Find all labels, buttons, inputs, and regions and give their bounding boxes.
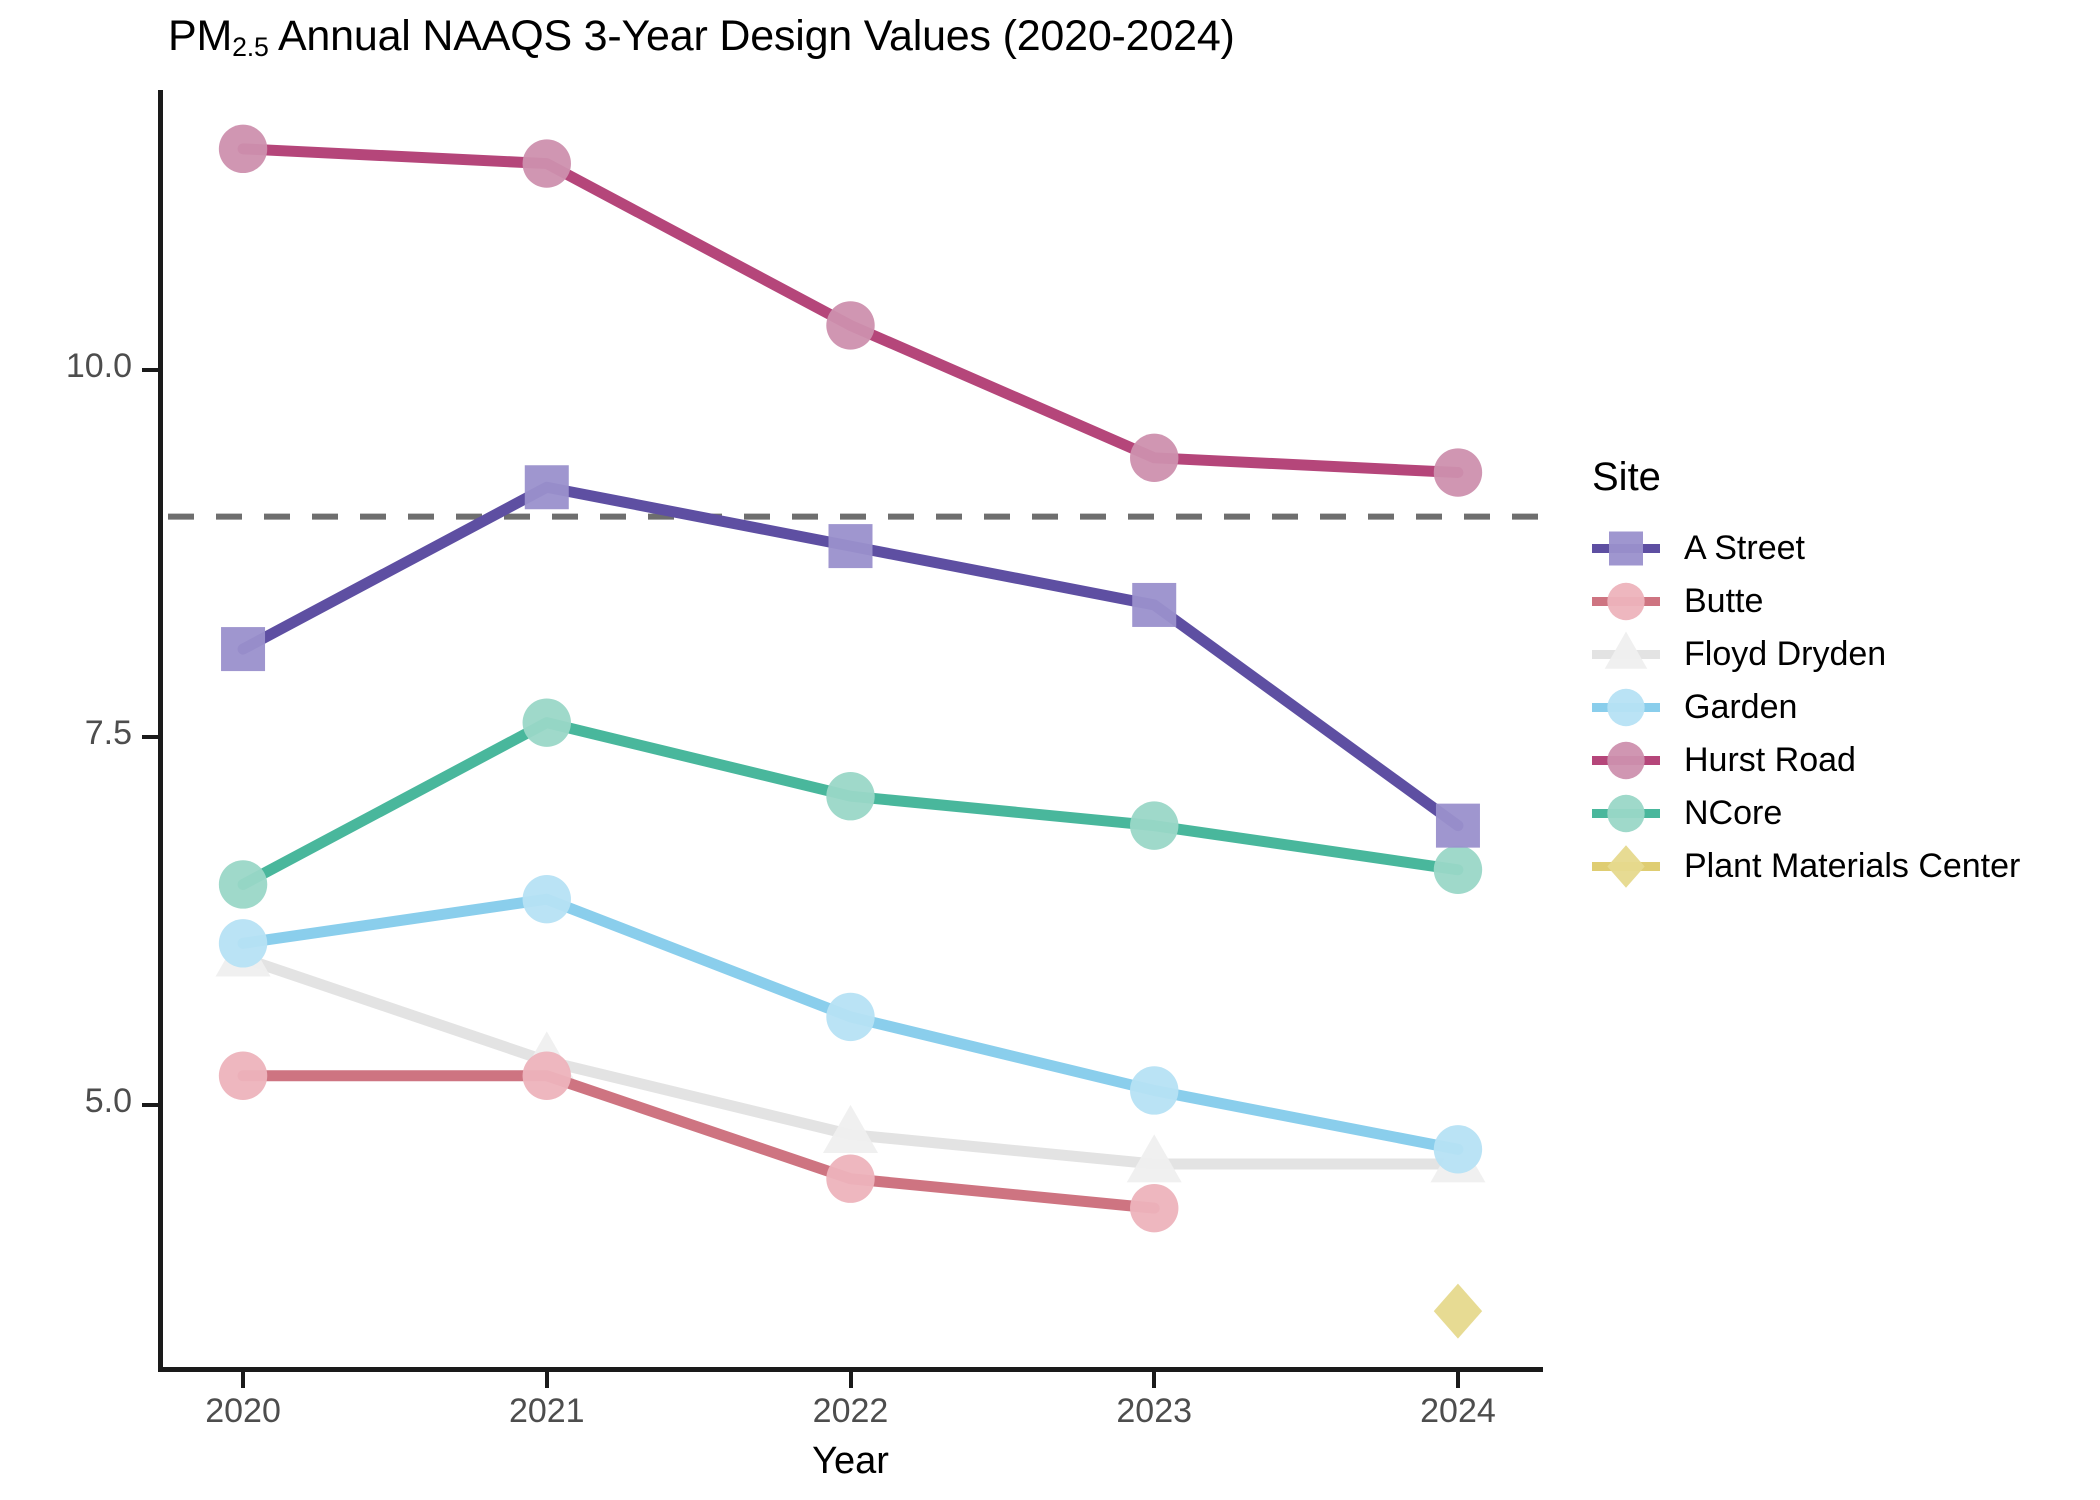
data-point-marker (523, 698, 571, 746)
data-point-marker (1607, 845, 1644, 888)
chart-title-subscript: 2.5 (232, 32, 268, 62)
legend-item-label: Floyd Dryden (1684, 635, 1886, 674)
legend-key-swatch (1590, 734, 1662, 787)
chart-title-main: PM (168, 12, 232, 60)
legend-key-swatch (1590, 840, 1662, 893)
data-point-marker (1607, 742, 1644, 779)
legend-item-hurst-road[interactable]: Hurst Road (1590, 734, 2070, 787)
legend-item-garden[interactable]: Garden (1590, 681, 2070, 734)
legend-item-plant-materials-center[interactable]: Plant Materials Center (1590, 840, 2070, 893)
data-point-marker (1434, 448, 1482, 496)
y-tick-mark (142, 368, 158, 372)
x-tick-label: 2021 (447, 1392, 647, 1431)
data-point-marker (525, 465, 569, 509)
legend-key-swatch (1590, 628, 1662, 681)
legend-item-label: Hurst Road (1684, 741, 1856, 780)
legend-item-a-street[interactable]: A Street (1590, 522, 2070, 575)
data-point-marker (219, 1052, 267, 1100)
legend-item-floyd-dryden[interactable]: Floyd Dryden (1590, 628, 2070, 681)
data-point-marker (1436, 804, 1480, 848)
chart-title-rest: Annual NAAQS 3-Year Design Values (2020-… (269, 12, 1235, 60)
legend-key-swatch (1590, 522, 1662, 575)
data-point-marker (1607, 795, 1644, 832)
data-point-marker (219, 919, 267, 967)
legend-item-ncore[interactable]: NCore (1590, 787, 2070, 840)
legend-item-label: Butte (1684, 582, 1763, 621)
legend-item-label: Plant Materials Center (1684, 847, 2020, 886)
y-tick-label: 5.0 (0, 1082, 132, 1121)
data-point-marker (1130, 434, 1178, 482)
y-tick-mark (142, 735, 158, 739)
data-point-marker (1130, 1066, 1178, 1114)
x-tick-label: 2023 (1054, 1392, 1254, 1431)
chart-title: PM2.5 Annual NAAQS 3-Year Design Values … (168, 12, 1235, 61)
legend-key-swatch (1590, 787, 1662, 840)
data-point-marker (826, 301, 874, 349)
data-point-marker (1130, 1184, 1178, 1232)
legend-item-label: A Street (1684, 529, 1805, 568)
data-point-marker (219, 860, 267, 908)
plot-area: PM2.5 (μg/m³) Year 5.07.510.0 2020202120… (158, 90, 1546, 1390)
x-tick-label: 2020 (143, 1392, 343, 1431)
data-point-marker (523, 875, 571, 923)
x-tick-label: 2024 (1358, 1392, 1558, 1431)
data-point-marker (826, 1155, 874, 1203)
series-plant-materials-center (1434, 1284, 1482, 1339)
data-point-marker (1434, 1284, 1482, 1339)
series-ncore (219, 698, 1482, 908)
data-point-marker (523, 139, 571, 187)
data-point-marker (1130, 801, 1178, 849)
y-tick-label: 7.5 (0, 714, 132, 753)
data-point-marker (1607, 689, 1644, 726)
legend-title: Site (1592, 455, 2070, 500)
series-floyd-dryden (216, 928, 1486, 1182)
data-point-marker (221, 627, 265, 671)
chart-root: PM2.5 Annual NAAQS 3-Year Design Values … (0, 0, 2100, 1500)
data-point-marker (1434, 846, 1482, 894)
legend-item-butte[interactable]: Butte (1590, 575, 2070, 628)
y-tick-mark (142, 1103, 158, 1107)
legend-key-swatch (1590, 681, 1662, 734)
data-point-marker (829, 524, 873, 568)
data-point-marker (1434, 1125, 1482, 1173)
data-point-marker (826, 772, 874, 820)
data-point-marker (523, 1052, 571, 1100)
data-point-marker (1609, 532, 1643, 566)
x-axis-title: Year (158, 1440, 1543, 1483)
series-butte (219, 1052, 1179, 1233)
legend-item-label: NCore (1684, 794, 1782, 833)
series-hurst-road (219, 125, 1482, 497)
data-point-marker (826, 993, 874, 1041)
legend-item-label: Garden (1684, 688, 1797, 727)
legend: Site A StreetButteFloyd DrydenGardenHurs… (1590, 455, 2070, 893)
series-layer (158, 90, 1546, 1390)
legend-items: A StreetButteFloyd DrydenGardenHurst Roa… (1590, 522, 2070, 893)
data-point-marker (1132, 583, 1176, 627)
y-tick-label: 10.0 (0, 347, 132, 386)
data-point-marker (219, 125, 267, 173)
data-point-marker (1607, 583, 1644, 620)
legend-key-swatch (1590, 575, 1662, 628)
x-tick-label: 2022 (751, 1392, 951, 1431)
